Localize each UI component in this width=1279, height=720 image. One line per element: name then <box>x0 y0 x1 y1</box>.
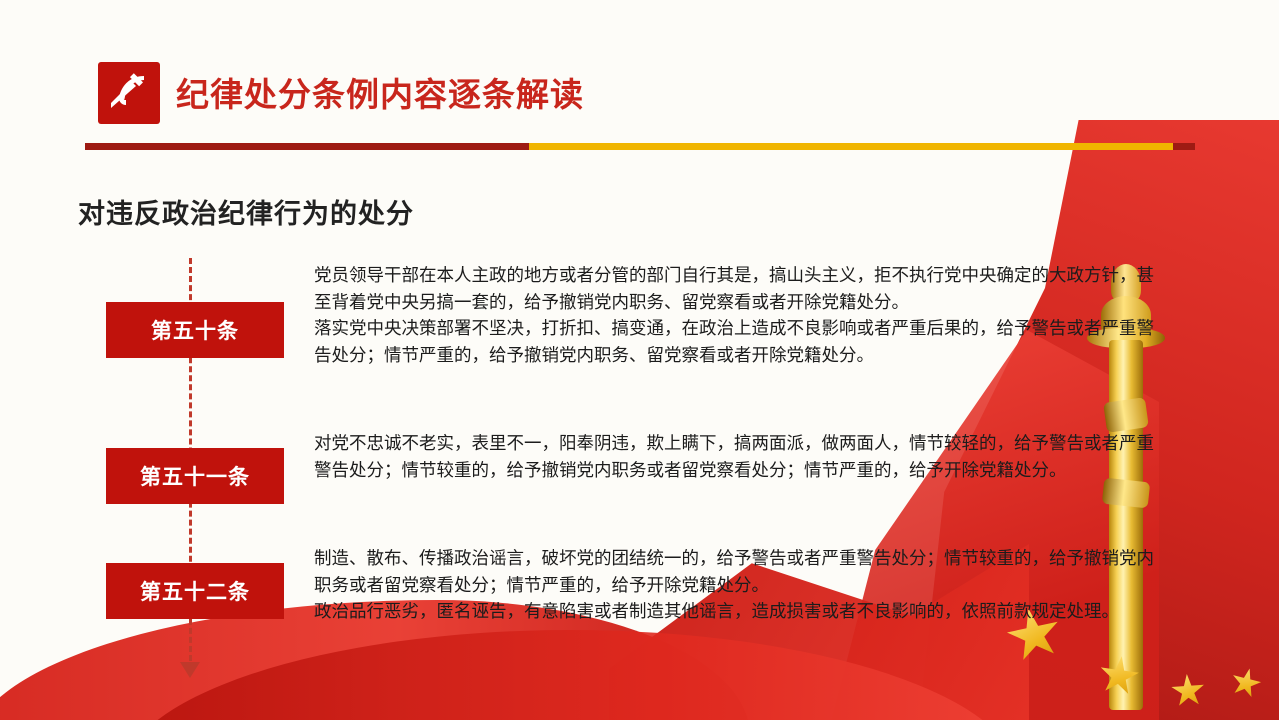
gold-star-icon <box>1170 673 1206 709</box>
divider-segment-dark <box>85 143 529 150</box>
article-tag[interactable]: 第五十条 <box>106 302 284 358</box>
divider-segment-gold <box>529 143 1173 150</box>
gold-star-icon <box>1096 653 1141 698</box>
page-title: 纪律处分条例内容逐条解读 <box>176 68 584 116</box>
article-paragraph: 党员领导干部在本人主政的地方或者分管的部门自行其是，搞山头主义，拒不执行党中央确… <box>314 262 1154 315</box>
red-ribbon-icon <box>829 330 1159 720</box>
gold-star-icon <box>1228 665 1264 701</box>
red-wave-icon <box>120 630 1020 720</box>
article-paragraph: 制造、散布、传播政治谣言，破坏党的团结统一的，给予警告或者严重警告处分；情节较重… <box>314 545 1154 598</box>
section-title: 对违反政治纪律行为的处分 <box>78 192 414 231</box>
timeline-arrow-down-icon <box>180 662 200 678</box>
article-paragraph: 对党不忠诚不老实，表里不一，阳奉阴违，欺上瞒下，搞两面派，做两面人，情节较轻的，… <box>314 430 1154 483</box>
article-body: 对党不忠诚不老实，表里不一，阳奉阴违，欺上瞒下，搞两面派，做两面人，情节较轻的，… <box>314 430 1154 483</box>
ccp-hammer-sickle-emblem-icon <box>98 62 160 124</box>
article-body: 党员领导干部在本人主政的地方或者分管的部门自行其是，搞山头主义，拒不执行党中央确… <box>314 262 1154 368</box>
article-paragraph: 落实党中央决策部署不坚决，打折扣、搞变通，在政治上造成不良影响或者严重后果的，给… <box>314 315 1154 368</box>
article-tag[interactable]: 第五十二条 <box>106 563 284 619</box>
column-ring <box>1103 397 1149 433</box>
header-divider <box>85 143 1195 150</box>
column-shaft <box>1109 340 1143 710</box>
red-ribbon-icon <box>919 120 1279 720</box>
divider-segment-end <box>1173 143 1195 150</box>
slide-header: 纪律处分条例内容逐条解读 <box>0 0 1279 160</box>
article-body: 制造、散布、传播政治谣言，破坏党的团结统一的，给予警告或者严重警告处分；情节较重… <box>314 545 1154 625</box>
article-paragraph: 政治品行恶劣，匿名诬告，有意陷害或者制造其他谣言，造成损害或者不良影响的，依照前… <box>314 598 1154 625</box>
article-tag[interactable]: 第五十一条 <box>106 448 284 504</box>
